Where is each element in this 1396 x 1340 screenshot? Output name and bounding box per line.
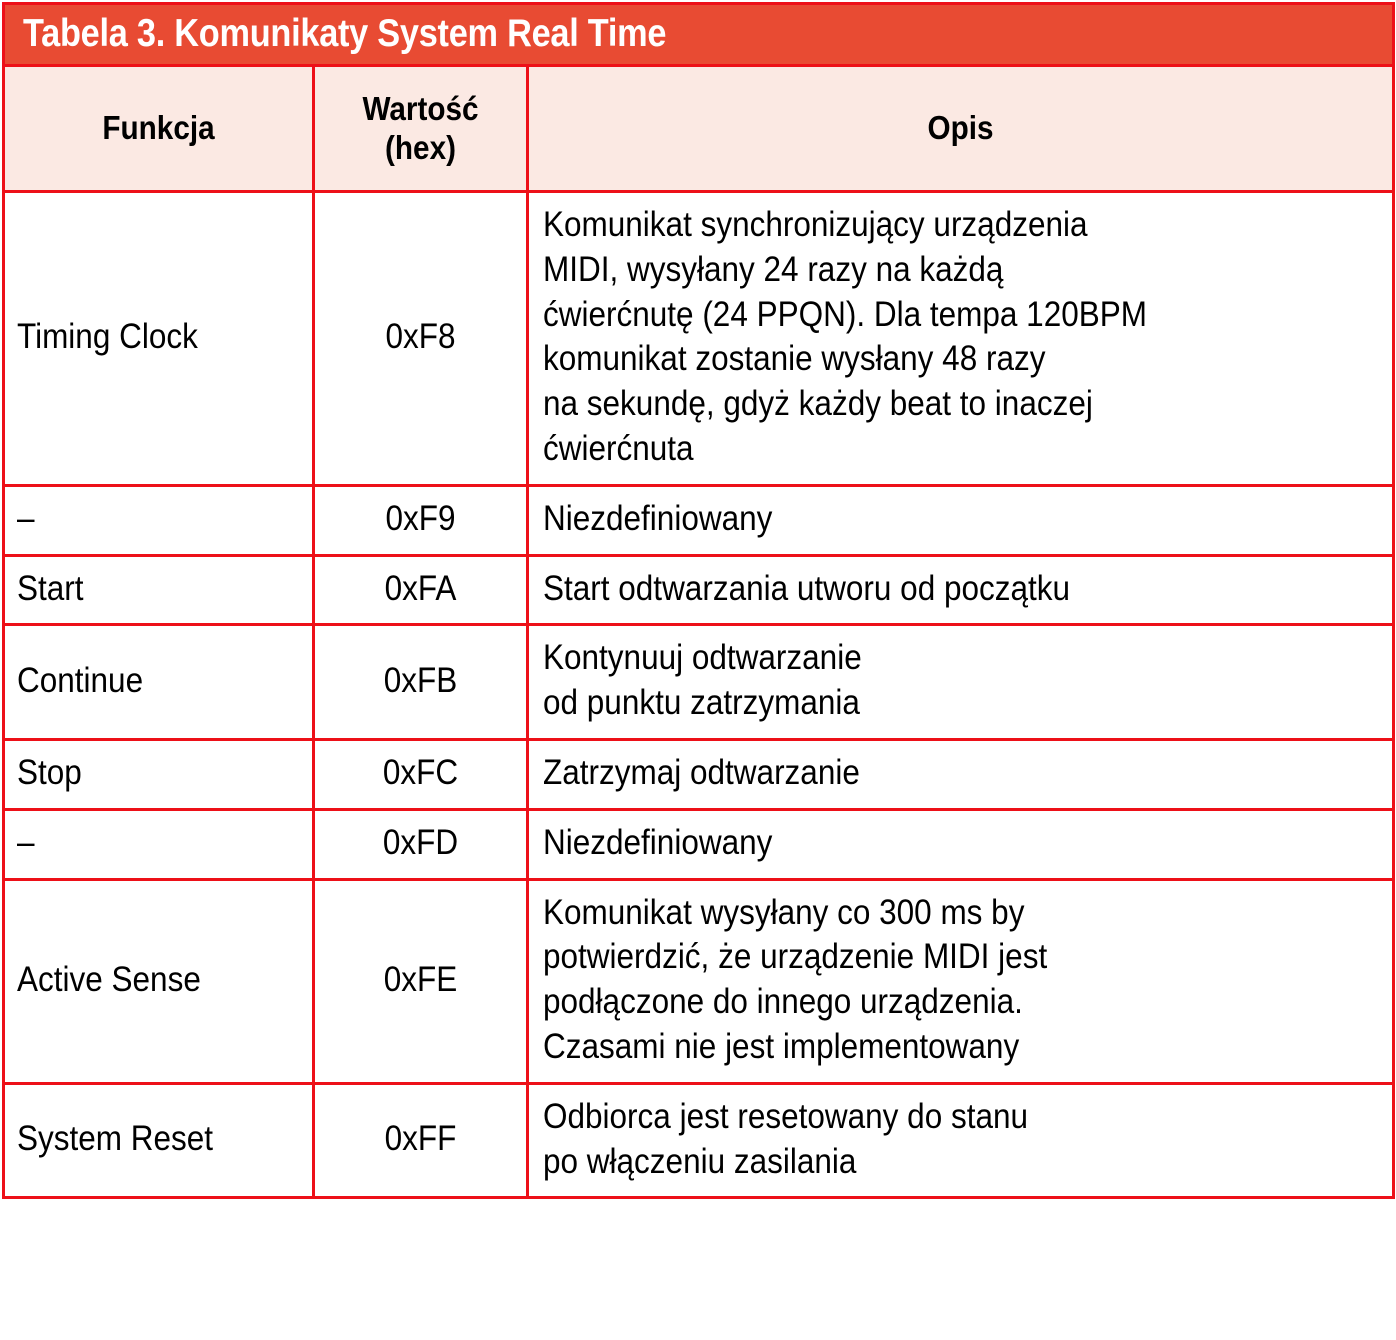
table-container: Tabela 3. Komunikaty System Real Time Fu…	[0, 2, 1396, 1340]
table-row: Stop 0xFC Zatrzymaj odtwarzanie	[4, 739, 1394, 809]
cell-opis: Komunikat wysyłany co 300 ms by potwierd…	[528, 879, 1394, 1083]
cell-wartosc: 0xFA	[314, 555, 528, 625]
table-title-cell: Tabela 3. Komunikaty System Real Time	[4, 4, 1394, 66]
table-body: Timing Clock 0xF8 Komunikat synchronizuj…	[4, 192, 1394, 1198]
cell-opis: Start odtwarzania utworu od początku	[528, 555, 1394, 625]
cell-wartosc-text: 0xFE	[331, 958, 510, 1003]
column-header-opis: Opis	[528, 66, 1394, 192]
cell-funkcja: Timing Clock	[4, 192, 314, 486]
cell-wartosc: 0xF8	[314, 192, 528, 486]
table-row: Active Sense 0xFE Komunikat wysyłany co …	[4, 879, 1394, 1083]
cell-wartosc-text: 0xF9	[331, 497, 510, 542]
cell-opis-text: Odbiorca jest resetowany do stanu po włą…	[543, 1095, 1300, 1185]
column-header-funkcja: Funkcja	[4, 66, 314, 192]
cell-funkcja-text: –	[17, 821, 275, 866]
cell-wartosc: 0xFD	[314, 809, 528, 879]
cell-funkcja-text: Continue	[17, 659, 275, 704]
column-header-wartosc: Wartość (hex)	[314, 66, 528, 192]
cell-wartosc: 0xFF	[314, 1083, 528, 1198]
table-row: Start 0xFA Start odtwarzania utworu od p…	[4, 555, 1394, 625]
cell-opis: Zatrzymaj odtwarzanie	[528, 739, 1394, 809]
cell-funkcja-text: Start	[17, 567, 275, 612]
cell-funkcja: Stop	[4, 739, 314, 809]
cell-wartosc-text: 0xF8	[331, 315, 510, 360]
column-header-opis-label: Opis	[578, 109, 1344, 147]
cell-funkcja: Start	[4, 555, 314, 625]
cell-wartosc: 0xFB	[314, 625, 528, 740]
cell-wartosc: 0xFC	[314, 739, 528, 809]
cell-wartosc-text: 0xFA	[331, 567, 510, 612]
cell-wartosc-text: 0xFD	[331, 821, 510, 866]
cell-funkcja-text: Stop	[17, 751, 275, 796]
cell-funkcja: Active Sense	[4, 879, 314, 1083]
midi-system-realtime-table: Tabela 3. Komunikaty System Real Time Fu…	[2, 2, 1395, 1199]
cell-funkcja: System Reset	[4, 1083, 314, 1198]
cell-opis-text: Komunikat wysyłany co 300 ms by potwierd…	[543, 891, 1300, 1070]
cell-funkcja: –	[4, 809, 314, 879]
cell-wartosc-text: 0xFC	[331, 751, 510, 796]
cell-opis: Niezdefiniowany	[528, 485, 1394, 555]
column-header-wartosc-label: Wartość (hex)	[331, 90, 510, 167]
cell-opis-text: Start odtwarzania utworu od początku	[543, 567, 1300, 612]
table-row: Continue 0xFB Kontynuuj odtwarzanie od p…	[4, 625, 1394, 740]
cell-funkcja-text: Timing Clock	[17, 315, 275, 360]
cell-wartosc: 0xFE	[314, 879, 528, 1083]
table-row: Timing Clock 0xF8 Komunikat synchronizuj…	[4, 192, 1394, 486]
table-header-row: Funkcja Wartość (hex) Opis	[4, 66, 1394, 192]
page-title: Tabela 3. Komunikaty System Real Time	[23, 14, 1228, 53]
cell-opis-text: Niezdefiniowany	[543, 821, 1300, 866]
column-header-funkcja-label: Funkcja	[26, 109, 292, 147]
table-row: System Reset 0xFF Odbiorca jest resetowa…	[4, 1083, 1394, 1198]
cell-opis-text: Komunikat synchronizujący urządzenia MID…	[543, 203, 1300, 472]
cell-funkcja-text: Active Sense	[17, 958, 275, 1003]
cell-opis-text: Niezdefiniowany	[543, 497, 1300, 542]
cell-opis: Komunikat synchronizujący urządzenia MID…	[528, 192, 1394, 486]
cell-funkcja-text: System Reset	[17, 1117, 275, 1162]
table-title-row: Tabela 3. Komunikaty System Real Time	[4, 4, 1394, 66]
cell-funkcja: Continue	[4, 625, 314, 740]
table-row: – 0xF9 Niezdefiniowany	[4, 485, 1394, 555]
table-row: – 0xFD Niezdefiniowany	[4, 809, 1394, 879]
cell-opis-text: Kontynuuj odtwarzanie od punktu zatrzyma…	[543, 636, 1300, 726]
cell-wartosc: 0xF9	[314, 485, 528, 555]
cell-funkcja-text: –	[17, 497, 275, 542]
cell-funkcja: –	[4, 485, 314, 555]
cell-opis: Kontynuuj odtwarzanie od punktu zatrzyma…	[528, 625, 1394, 740]
cell-opis-text: Zatrzymaj odtwarzanie	[543, 751, 1300, 796]
cell-wartosc-text: 0xFF	[331, 1117, 510, 1162]
cell-opis: Odbiorca jest resetowany do stanu po włą…	[528, 1083, 1394, 1198]
cell-wartosc-text: 0xFB	[331, 659, 510, 704]
cell-opis: Niezdefiniowany	[528, 809, 1394, 879]
